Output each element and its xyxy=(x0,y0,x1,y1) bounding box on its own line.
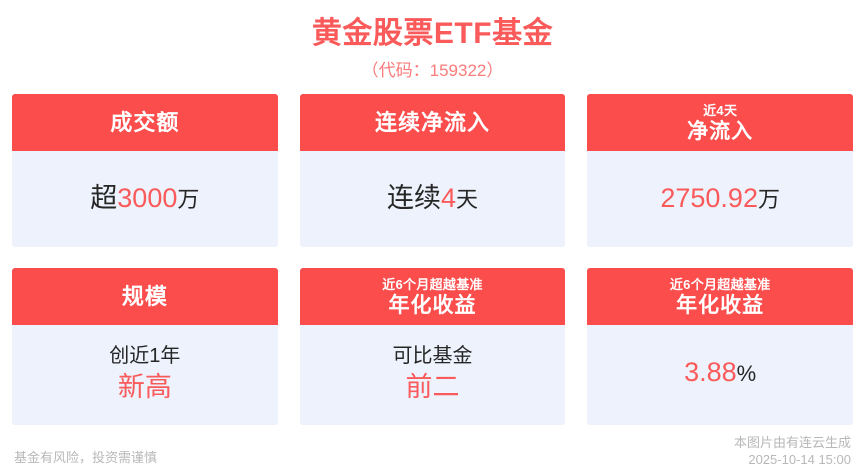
metric-value-prefix: 连续 xyxy=(387,183,441,213)
metric-value-number: 3.88 xyxy=(684,357,737,387)
metric-card-header: 近4天 净流入 xyxy=(587,94,853,151)
metric-value: 3.88% xyxy=(684,355,756,391)
metric-card-header-title: 净流入 xyxy=(687,119,753,144)
metric-card-header-subtitle: 近6个月超越基准 xyxy=(382,276,483,293)
metric-value-number: 4 xyxy=(441,183,456,213)
metric-card-body: 创近1年 新高 xyxy=(12,325,278,425)
generation-credit: 本图片由有连云生成 2025-10-14 15:00 xyxy=(734,434,851,468)
footer: 基金有风险，投资需谨慎 本图片由有连云生成 2025-10-14 15:00 xyxy=(0,434,865,468)
metric-card-turnover[interactable]: 成交额 超3000万 xyxy=(12,94,278,247)
metric-value-prefix: 超 xyxy=(90,183,117,213)
fund-code-subtitle: （代码：159322） xyxy=(0,58,865,84)
metric-card-consecutive-inflow[interactable]: 连续净流入 连续4天 xyxy=(300,94,566,247)
metric-card-body: 超3000万 xyxy=(12,151,278,247)
metric-card-annualized-return-value[interactable]: 近6个月超越基准 年化收益 3.88% xyxy=(587,268,853,425)
title-block: 黄金股票ETF基金 （代码：159322） xyxy=(0,0,865,84)
page-title: 黄金股票ETF基金 xyxy=(0,14,865,54)
metric-value: 连续4天 xyxy=(387,181,478,217)
risk-disclaimer: 基金有风险，投资需谨慎 xyxy=(14,448,157,468)
metric-value-unit: 万 xyxy=(758,187,780,212)
metric-card-header-title: 规模 xyxy=(122,283,168,310)
metric-card-grid: 成交额 超3000万 连续净流入 连续4天 近4天 净流入 xyxy=(0,94,865,425)
metric-card-header-title: 成交额 xyxy=(110,109,179,136)
metric-value-line-1: 可比基金 xyxy=(393,342,473,370)
metric-value-unit: 天 xyxy=(456,187,478,212)
metric-card-header: 连续净流入 xyxy=(300,94,566,151)
metric-value-number: 2750.92 xyxy=(660,183,758,213)
metric-card-header-title: 年化收益 xyxy=(389,293,477,318)
generation-timestamp: 2025-10-14 15:00 xyxy=(734,451,851,468)
metric-card-header: 规模 xyxy=(12,268,278,325)
metric-card-header: 近6个月超越基准 年化收益 xyxy=(587,268,853,325)
metric-card-annualized-return-rank[interactable]: 近6个月超越基准 年化收益 可比基金 前二 xyxy=(300,268,566,425)
metric-value-number: 3000 xyxy=(117,183,177,213)
metric-card-header-subtitle: 近6个月超越基准 xyxy=(670,276,771,293)
metric-value-line-2: 前二 xyxy=(406,370,460,404)
metric-card-body: 连续4天 xyxy=(300,151,566,247)
metric-card-body: 2750.92万 xyxy=(587,151,853,247)
metric-value: 超3000万 xyxy=(90,181,199,217)
metric-card-row-2: 规模 创近1年 新高 近6个月超越基准 年化收益 可比基金 前二 xyxy=(12,268,853,425)
generation-source: 本图片由有连云生成 xyxy=(734,434,851,451)
metric-card-row-1: 成交额 超3000万 连续净流入 连续4天 近4天 净流入 xyxy=(12,94,853,247)
metric-card-scale[interactable]: 规模 创近1年 新高 xyxy=(12,268,278,425)
metric-card-net-inflow[interactable]: 近4天 净流入 2750.92万 xyxy=(587,94,853,247)
metric-value-line-2: 新高 xyxy=(118,370,172,404)
metric-card-body: 3.88% xyxy=(587,325,853,421)
metric-card-header-title: 连续净流入 xyxy=(375,109,490,136)
metric-value-unit: 万 xyxy=(177,187,199,212)
metric-card-header-title: 年化收益 xyxy=(676,293,764,318)
metric-card-header: 成交额 xyxy=(12,94,278,151)
metric-card-body: 可比基金 前二 xyxy=(300,325,566,425)
metric-value-line-1: 创近1年 xyxy=(109,342,180,370)
fund-info-card-page: 黄金股票ETF基金 （代码：159322） 成交额 超3000万 连续净流入 连… xyxy=(0,0,865,476)
metric-card-header-subtitle: 近4天 xyxy=(703,102,737,119)
metric-value-unit: % xyxy=(737,361,757,386)
metric-card-header: 近6个月超越基准 年化收益 xyxy=(300,268,566,325)
metric-value: 2750.92万 xyxy=(660,181,780,217)
